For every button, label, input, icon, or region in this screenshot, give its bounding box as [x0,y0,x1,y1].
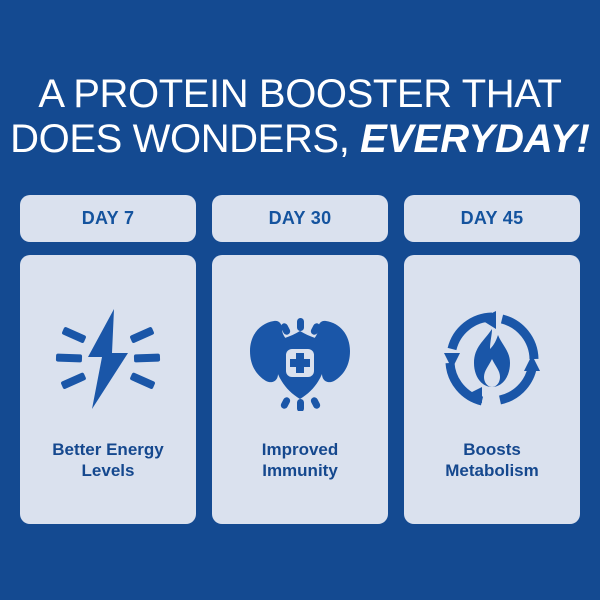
benefit-card-metabolism: Boosts Metabolism [404,255,580,524]
benefit-label-energy-line2: Levels [82,461,135,480]
benefit-card-energy: Better Energy Levels [20,255,196,524]
benefit-column-day-7: DAY 7 [20,195,196,524]
headline-emphasis: EVERYDAY! [360,117,590,161]
benefit-label-immunity-line2: Immunity [262,461,338,480]
day-pill-3: DAY 45 [404,195,580,242]
benefit-label-metabolism-line1: Boosts [463,440,521,459]
benefit-card-immunity: Improved Immunity [212,255,388,524]
promo-poster: A PROTEIN BOOSTER THAT DOES WONDERS, EVE… [0,0,600,600]
benefit-label-immunity-line1: Improved [262,440,339,459]
benefit-label-energy-line1: Better Energy [52,440,163,459]
benefits-columns: DAY 7 [20,195,580,524]
day-pill-2-label: DAY 30 [269,208,332,229]
day-pill-2: DAY 30 [212,195,388,242]
benefit-column-day-30: DAY 30 [212,195,388,524]
benefit-label-metabolism-line2: Metabolism [445,461,539,480]
benefit-label-immunity: Improved Immunity [220,439,380,481]
flame-cycle-icon [436,303,548,415]
benefit-label-energy: Better Energy Levels [28,439,188,481]
day-pill-3-label: DAY 45 [461,208,524,229]
day-pill-1: DAY 7 [20,195,196,242]
lightning-bolt-icon [52,303,164,415]
headline-line-2-prefix: DOES WONDERS, [10,117,349,161]
benefit-label-metabolism: Boosts Metabolism [412,439,572,481]
page-title: A PROTEIN BOOSTER THAT DOES WONDERS, EVE… [0,72,600,162]
shield-muscle-icon [244,303,356,415]
day-pill-1-label: DAY 7 [82,208,135,229]
headline-line-2: DOES WONDERS, EVERYDAY! [0,117,600,162]
benefit-column-day-45: DAY 45 [404,195,580,524]
headline-line-1: A PROTEIN BOOSTER THAT [0,72,600,117]
